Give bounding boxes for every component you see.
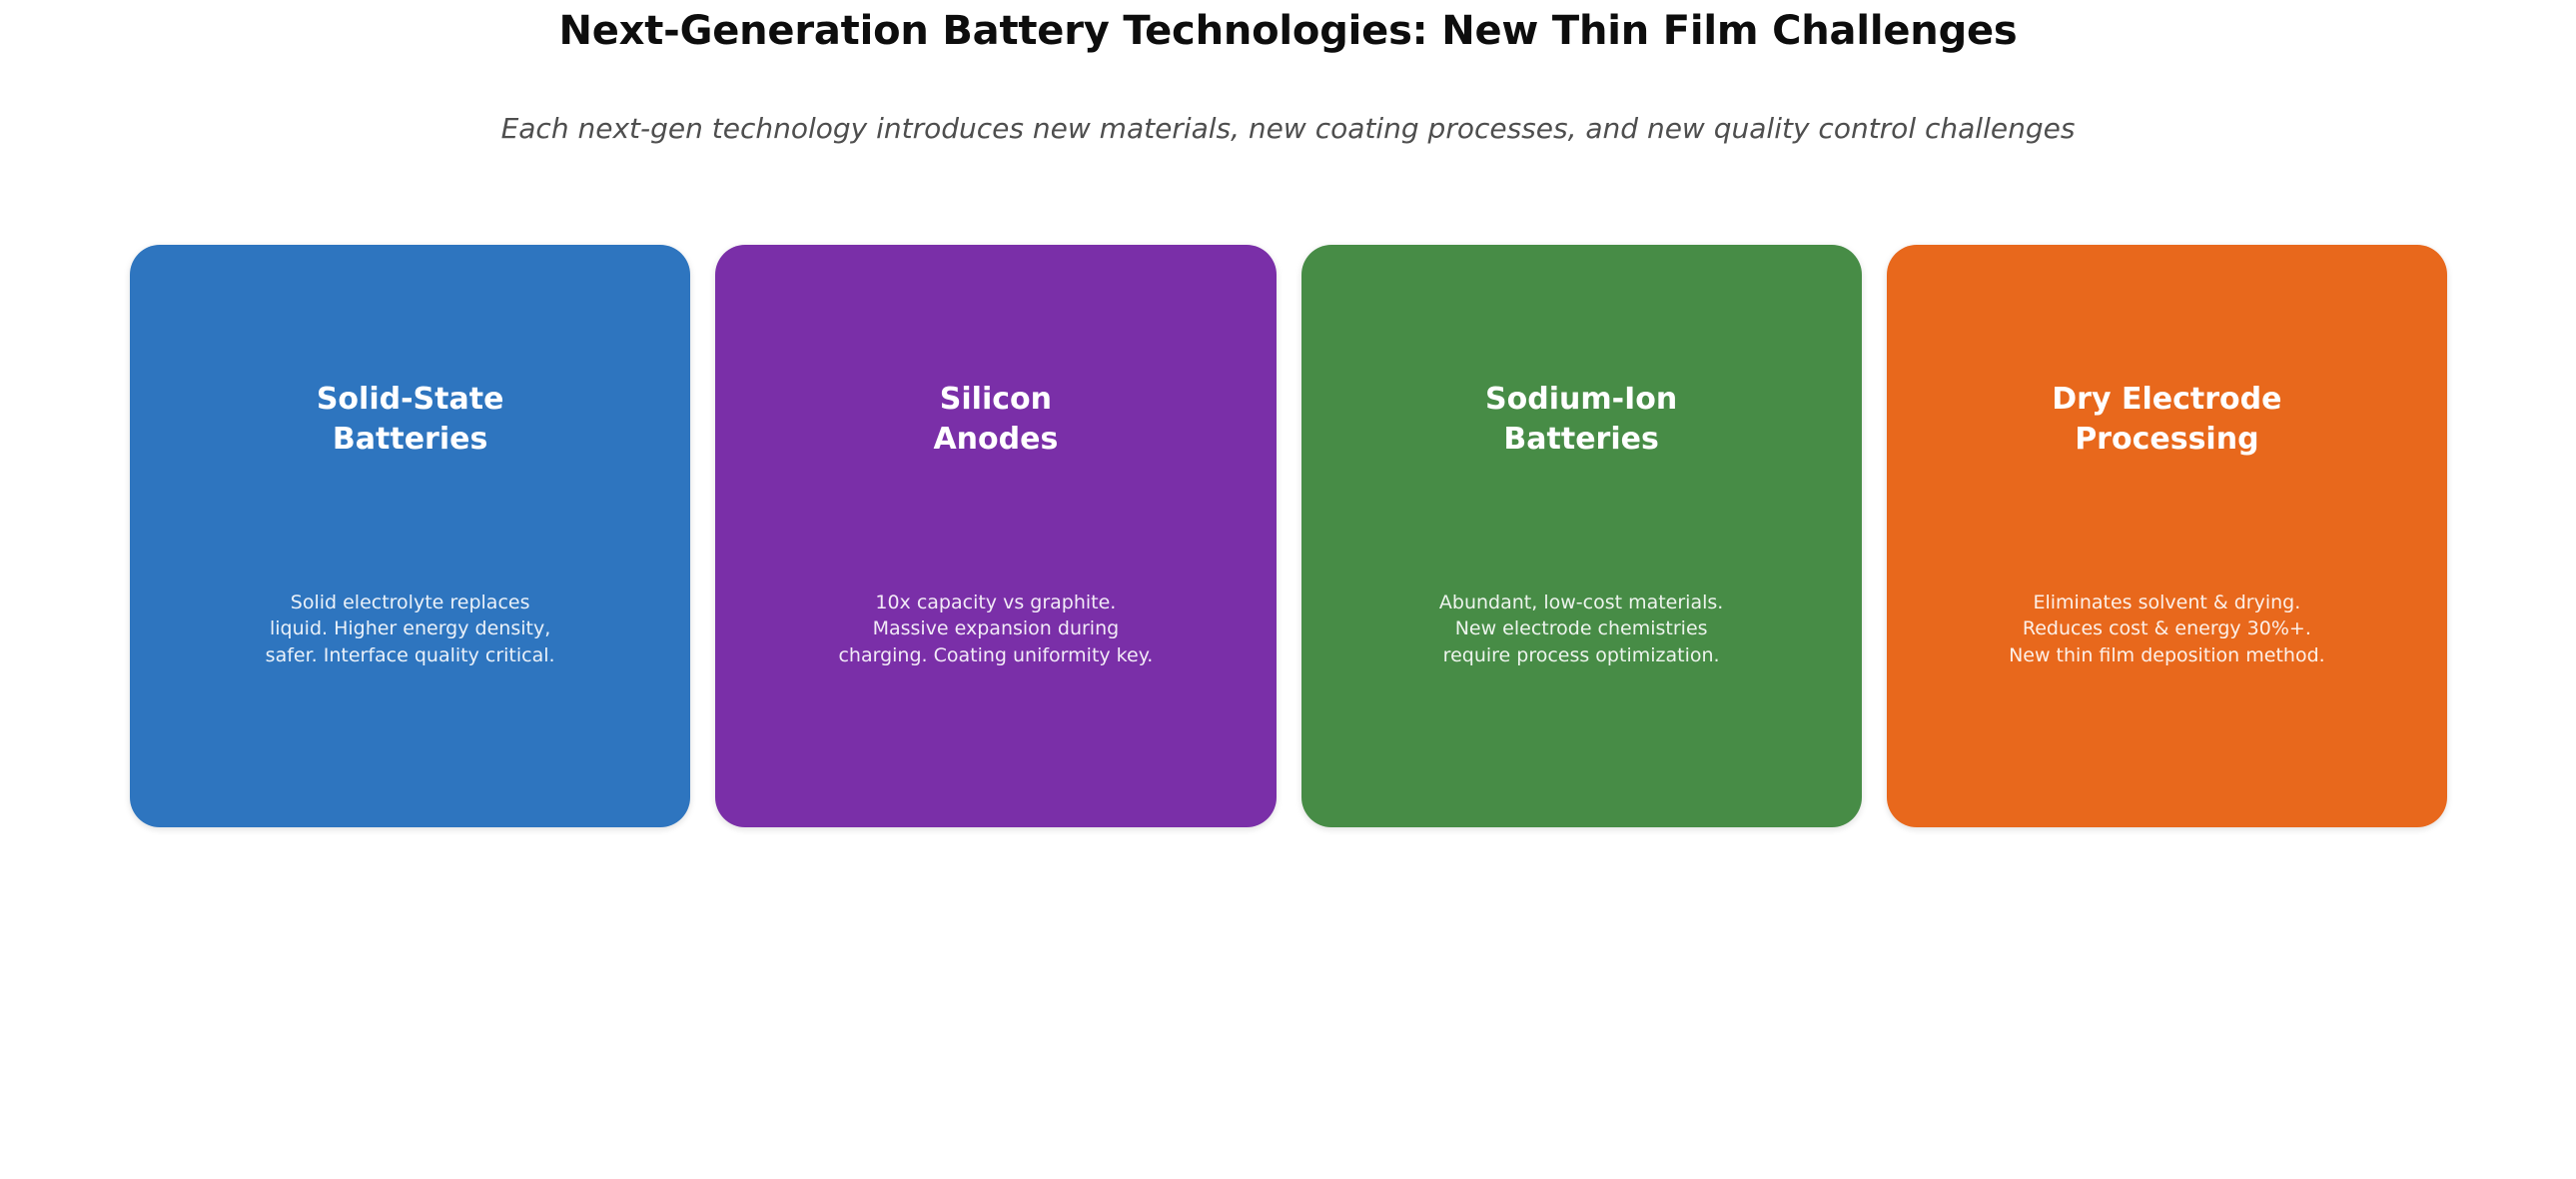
slide-canvas: Next-Generation Battery Technologies: Ne… xyxy=(0,0,2576,1179)
card-title-dry-electrode: Dry Electrode Processing xyxy=(1887,380,2447,459)
page-subtitle: Each next-gen technology introduces new … xyxy=(0,112,2576,146)
card-description-dry-electrode: Eliminates solvent & drying. Reduces cos… xyxy=(1887,589,2447,668)
card-title-solid-state: Solid-State Batteries xyxy=(130,380,690,459)
page-title: Next-Generation Battery Technologies: Ne… xyxy=(0,8,2576,54)
technology-card-row: Solid-State Batteries Solid electrolyte … xyxy=(130,245,2447,827)
card-description-silicon-anodes: 10x capacity vs graphite. Massive expans… xyxy=(715,589,1276,668)
technology-card-silicon-anodes[interactable]: Silicon Anodes 10x capacity vs graphite.… xyxy=(715,245,1276,827)
technology-card-solid-state[interactable]: Solid-State Batteries Solid electrolyte … xyxy=(130,245,690,827)
card-title-sodium-ion: Sodium-Ion Batteries xyxy=(1301,380,1862,459)
technology-card-sodium-ion[interactable]: Sodium-Ion Batteries Abundant, low-cost … xyxy=(1301,245,1862,827)
card-description-sodium-ion: Abundant, low-cost materials. New electr… xyxy=(1301,589,1862,668)
card-description-solid-state: Solid electrolyte replaces liquid. Highe… xyxy=(130,589,690,668)
card-title-silicon-anodes: Silicon Anodes xyxy=(715,380,1276,459)
technology-card-dry-electrode[interactable]: Dry Electrode Processing Eliminates solv… xyxy=(1887,245,2447,827)
